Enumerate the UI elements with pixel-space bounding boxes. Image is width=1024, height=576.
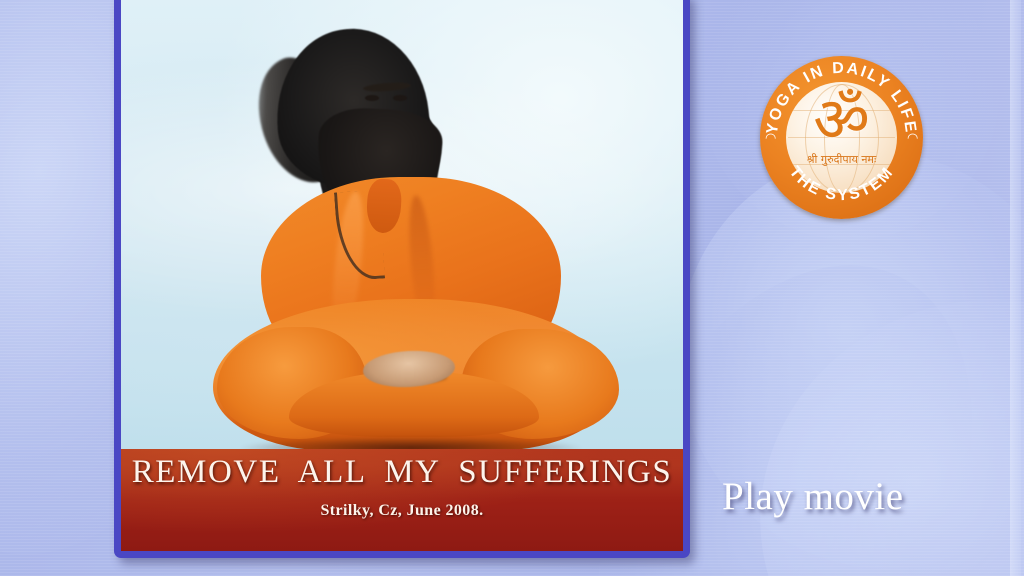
logo-top-text: YOGA IN DAILY LIFE (764, 60, 919, 135)
svg-text:YOGA IN DAILY LIFE: YOGA IN DAILY LIFE (764, 60, 919, 135)
dvd-menu-screen: REMOVE ALL MY SUFFERINGS Strilky, Cz, Ju… (0, 0, 1024, 576)
logo-ornament-right-icon: ◠ (907, 133, 918, 144)
svg-text:THE SYSTEM: THE SYSTEM (786, 163, 898, 204)
logo-ornament-left-icon: ◠ (765, 133, 776, 144)
eye-left (365, 95, 379, 101)
play-movie-menu-item[interactable]: Play movie (722, 474, 904, 519)
photo-caption-title: REMOVE ALL MY SUFFERINGS (121, 454, 683, 491)
logo-ring-text: YOGA IN DAILY LIFE THE SYSTEM (760, 56, 923, 219)
photo-image: REMOVE ALL MY SUFFERINGS Strilky, Cz, Ju… (121, 0, 683, 551)
photo-frame[interactable]: REMOVE ALL MY SUFFERINGS Strilky, Cz, Ju… (114, 0, 690, 558)
seated-figure (121, 0, 683, 451)
logo-bottom-text: THE SYSTEM (786, 163, 898, 204)
eye-right (393, 95, 407, 101)
yoga-in-daily-life-logo[interactable]: ॐ श्री गुरुदीपाय नमः YOGA IN DAILY LIFE … (760, 56, 923, 219)
photo-caption-subtitle: Strilky, Cz, June 2008. (121, 502, 683, 520)
